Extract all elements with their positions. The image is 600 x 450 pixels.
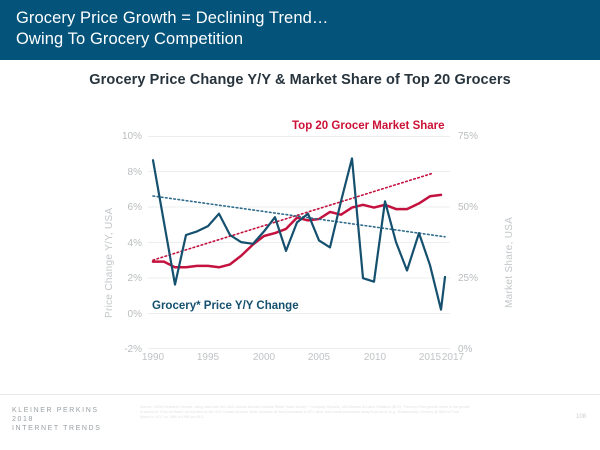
source-note: Source: USDA Research Service, using dat… xyxy=(140,405,470,421)
y-axis-left-title: Price Change Y/Y, USA xyxy=(104,208,115,318)
grid-lines xyxy=(148,137,450,349)
y-axis-right-tick-75: 75% xyxy=(458,131,478,142)
chart-title: Grocery Price Change Y/Y & Market Share … xyxy=(0,72,600,88)
footer-divider xyxy=(0,394,600,395)
y-axis-left-tick-2: 2% xyxy=(128,273,142,284)
y-axis-right-tick-50: 50% xyxy=(458,202,478,213)
x-axis-tick-2005: 2005 xyxy=(299,352,339,363)
kleiner-perkins-logo: KLEINER PERKINS 2018 INTERNET TRENDS xyxy=(12,406,101,433)
y-axis-left-tick-8: 8% xyxy=(128,167,142,178)
slide-title: Grocery Price Growth = Declining Trend… … xyxy=(16,8,576,50)
y-axis-right-tick-25: 25% xyxy=(458,273,478,284)
y-axis-left-tick-4: 4% xyxy=(128,238,142,249)
y-axis-left-tick-0: 0% xyxy=(128,309,142,320)
x-axis-tick-2017: 2017 xyxy=(433,352,473,363)
x-axis-tick-1995: 1995 xyxy=(188,352,228,363)
page-number: 108 xyxy=(576,414,586,420)
x-axis-tick-2000: 2000 xyxy=(244,352,284,363)
slide-header-band: Grocery Price Growth = Declining Trend… … xyxy=(0,0,600,60)
x-axis-tick-1990: 1990 xyxy=(133,352,173,363)
y-axis-left-tick-10: 10% xyxy=(122,131,142,142)
annotation-grocery-price: Grocery* Price Y/Y Change xyxy=(152,300,299,312)
y-axis-right-title: Market Share, USA xyxy=(504,217,515,308)
annotation-market-share: Top 20 Grocer Market Share xyxy=(292,120,445,132)
y-axis-left-tick-6: 6% xyxy=(128,202,142,213)
x-axis-tick-2010: 2010 xyxy=(355,352,395,363)
series-grocery-price xyxy=(153,158,445,309)
slide-footer: KLEINER PERKINS 2018 INTERNET TRENDS Sou… xyxy=(0,394,600,450)
plot-area xyxy=(148,136,450,349)
chart-container: 10% 8% 6% 4% 2% 0% -2% 75% 50% 25% 0% Pr… xyxy=(0,100,600,390)
